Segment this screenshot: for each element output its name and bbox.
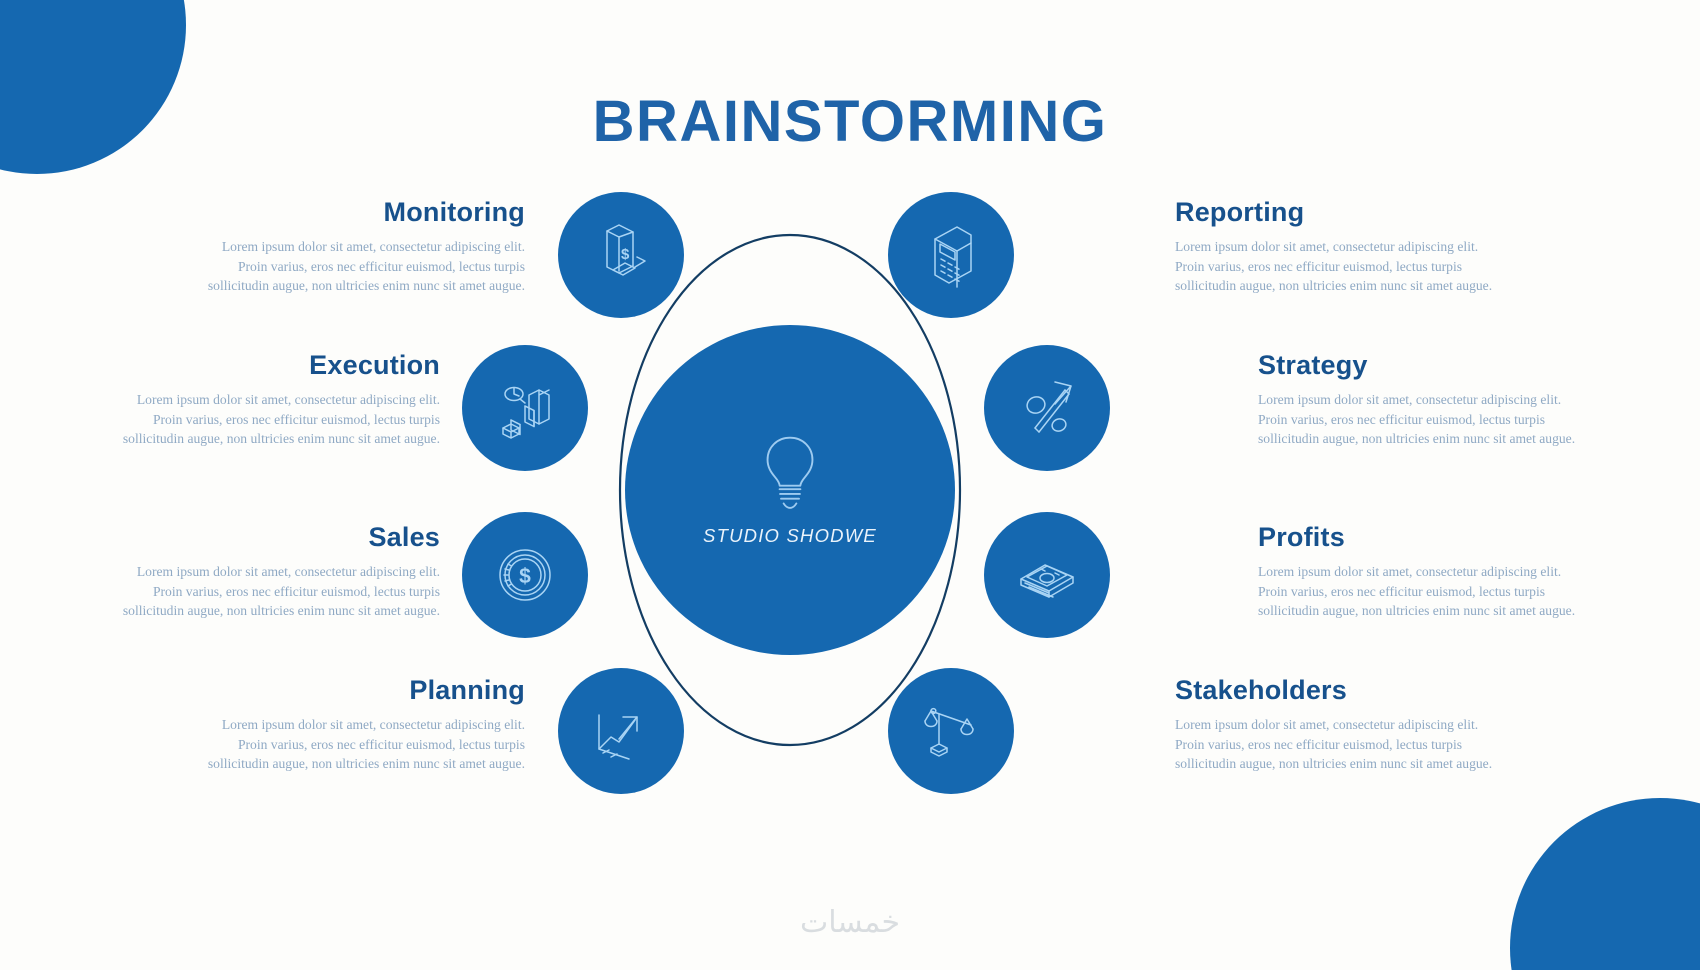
heading-sales: Sales — [110, 522, 440, 553]
watermark: خمسات — [0, 905, 1700, 940]
decorative-blob-bottom-right — [1510, 798, 1700, 970]
growth-arrow-graph-icon — [585, 695, 657, 767]
node-circle-strategy[interactable] — [984, 345, 1110, 471]
hub-label: STUDIO SHODWE — [703, 525, 877, 547]
calculator-icon — [915, 219, 987, 291]
text-block-stakeholders: Stakeholders Lorem ipsum dolor sit amet,… — [1175, 675, 1505, 774]
body-monitoring: Lorem ipsum dolor sit amet, consectetur … — [195, 237, 525, 296]
heading-execution: Execution — [110, 350, 440, 381]
body-sales: Lorem ipsum dolor sit amet, consectetur … — [110, 562, 440, 621]
node-circle-execution[interactable] — [462, 345, 588, 471]
down-arrow-dollar-icon: $ — [585, 219, 657, 291]
hub-circle[interactable]: STUDIO SHODWE — [625, 325, 955, 655]
text-block-reporting: Reporting Lorem ipsum dolor sit amet, co… — [1175, 197, 1505, 296]
body-profits: Lorem ipsum dolor sit amet, consectetur … — [1258, 562, 1588, 621]
page-title: BRAINSTORMING — [0, 88, 1700, 155]
heading-profits: Profits — [1258, 522, 1588, 553]
percent-arrow-up-icon — [1011, 372, 1083, 444]
node-circle-profits[interactable] — [984, 512, 1110, 638]
body-planning: Lorem ipsum dolor sit amet, consectetur … — [195, 715, 525, 774]
svg-text:$: $ — [621, 246, 630, 263]
heading-planning: Planning — [195, 675, 525, 706]
node-circle-stakeholders[interactable] — [888, 668, 1014, 794]
text-block-execution: Execution Lorem ipsum dolor sit amet, co… — [110, 350, 440, 449]
heading-stakeholders: Stakeholders — [1175, 675, 1505, 706]
balance-scale-icon — [915, 695, 987, 767]
text-block-sales: Sales Lorem ipsum dolor sit amet, consec… — [110, 522, 440, 621]
heading-reporting: Reporting — [1175, 197, 1505, 228]
body-stakeholders: Lorem ipsum dolor sit amet, consectetur … — [1175, 715, 1505, 774]
node-circle-reporting[interactable] — [888, 192, 1014, 318]
lightbulb-icon — [754, 433, 826, 511]
body-strategy: Lorem ipsum dolor sit amet, consectetur … — [1258, 390, 1588, 449]
node-circle-planning[interactable] — [558, 668, 684, 794]
heading-strategy: Strategy — [1258, 350, 1588, 381]
text-block-monitoring: Monitoring Lorem ipsum dolor sit amet, c… — [195, 197, 525, 296]
text-block-strategy: Strategy Lorem ipsum dolor sit amet, con… — [1258, 350, 1588, 449]
text-block-profits: Profits Lorem ipsum dolor sit amet, cons… — [1258, 522, 1588, 621]
cash-stack-icon — [1011, 539, 1083, 611]
infographic-canvas: BRAINSTORMING STUDIO SHODWE $ — [0, 0, 1700, 970]
body-reporting: Lorem ipsum dolor sit amet, consectetur … — [1175, 237, 1505, 296]
node-circle-sales[interactable]: $ — [462, 512, 588, 638]
heading-monitoring: Monitoring — [195, 197, 525, 228]
svg-text:$: $ — [519, 565, 531, 588]
text-block-planning: Planning Lorem ipsum dolor sit amet, con… — [195, 675, 525, 774]
bar-chart-analysis-icon — [489, 372, 561, 444]
body-execution: Lorem ipsum dolor sit amet, consectetur … — [110, 390, 440, 449]
coin-dollar-icon: $ — [489, 539, 561, 611]
node-circle-monitoring[interactable]: $ — [558, 192, 684, 318]
